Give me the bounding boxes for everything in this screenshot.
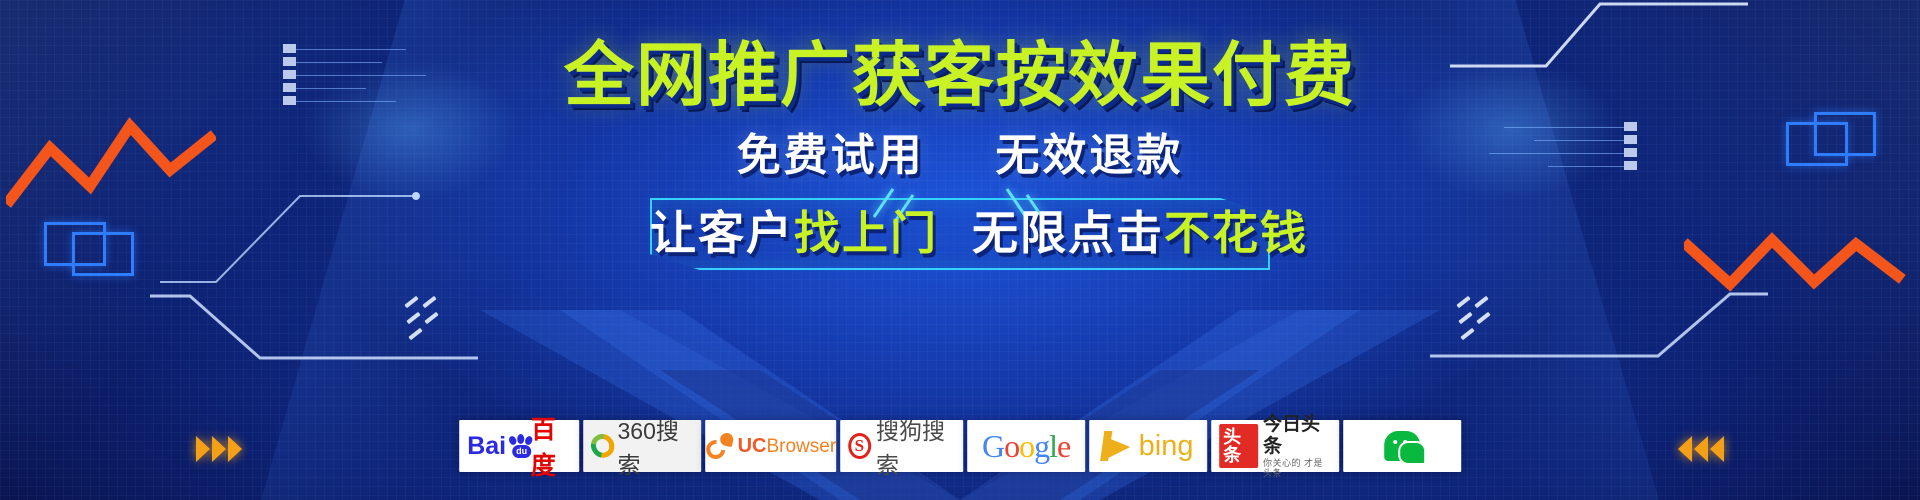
logo-360-search[interactable]: 360搜索 [583,420,701,472]
logo-uc-browser[interactable]: UCBrowser [705,420,836,472]
chevron-right-icon [228,436,242,462]
slogan-part1-highlight: 找上门 [794,206,938,260]
sub-headline-right: 无效退款 [995,130,1183,181]
sogou-label: 搜狗搜索 [876,412,955,480]
connector-line-left [160,162,420,292]
360-ring-icon [586,430,618,463]
toutiao-title: 今日头条 [1263,414,1331,458]
logo-google[interactable]: Google [967,420,1085,472]
chevron-left-icon [1678,436,1692,462]
toutiao-tagline: 你关心的 才是头条 [1263,458,1331,479]
chevron-left-icon [1710,436,1724,462]
google-letter: G [982,428,1004,464]
wechat-icon [1384,431,1420,461]
google-letter: o [1004,428,1019,464]
bing-label: bing [1139,430,1194,463]
slogan-text: 让客户找上门无限点击不花钱 [650,210,1270,256]
chevron-right-icon [212,436,226,462]
logo-sogou-search[interactable]: S 搜狗搜索 [840,420,963,472]
baidu-paw-icon: du [508,434,529,458]
baidu-cn: 百度 [531,410,571,482]
360-label: 360搜索 [618,412,693,480]
chevron-group-right [1678,436,1724,462]
logo-baidu[interactable]: Bai du 百度 [459,420,579,472]
uc-label: UC [738,435,767,457]
chevron-left-icon [1694,436,1708,462]
google-letter: l [1049,428,1057,464]
chevron-group-left [196,436,242,462]
logo-bing[interactable]: bing [1089,420,1207,472]
toutiao-badge: 头条 [1219,424,1258,468]
slogan-part1-plain: 让客户 [650,206,794,260]
square-stack-line-right-1 [1504,127,1624,128]
sogou-s-icon: S [848,433,871,459]
google-letter: o [1019,428,1034,464]
baidu-du-text: du [516,446,527,456]
chevron-right-icon [196,436,210,462]
bing-swoosh-icon [1103,431,1133,461]
logo-wechat[interactable] [1343,420,1461,472]
uc-squirrel-icon [705,433,735,459]
google-wordmark: Google [982,428,1070,465]
page-title: 全网推广获客按效果付费 [0,40,1920,110]
baidu-latin: Bai [467,432,506,461]
dash-group-left [404,296,464,342]
orange-zigzag-right [1684,218,1914,298]
slogan-part2-plain: 无限点击 [972,206,1164,260]
outline-rect-left-2 [72,232,134,276]
google-letter: e [1057,428,1070,464]
sub-headline: 免费试用 无效退款 [0,134,1920,178]
sub-headline-left: 免费试用 [737,130,925,181]
partner-logo-strip: Bai du 百度 360搜索 UCBrowser [457,420,1463,472]
promo-banner: 全网推广获客按效果付费 免费试用 无效退款 让客户找上门无限点击不花钱 Bai [0,0,1920,500]
google-letter: g [1034,428,1049,464]
logo-toutiao[interactable]: 头条 今日头条 你关心的 才是头条 [1211,420,1339,472]
slogan-frame: 让客户找上门无限点击不花钱 [650,198,1270,270]
dash-group-right [1456,296,1516,342]
slogan-part2-highlight: 不花钱 [1164,206,1308,260]
uc-browser-label: Browser [766,436,836,457]
